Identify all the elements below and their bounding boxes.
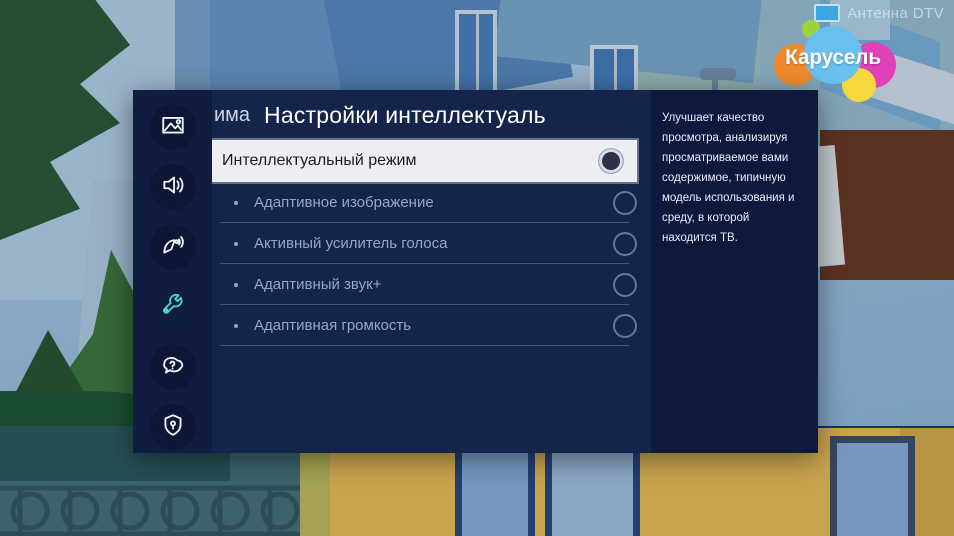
bullet-icon	[234, 283, 238, 287]
channel-source-banner: Антенна DTV	[814, 4, 944, 22]
sidebar-item-support[interactable]	[150, 344, 196, 390]
setting-label: Интеллектуальный режим	[222, 152, 599, 170]
channel-logo-text: Карусель	[768, 46, 898, 70]
setting-row-adaptive-sound-plus[interactable]: Адаптивный звук+	[212, 264, 637, 305]
sidebar-item-sound[interactable]	[150, 164, 196, 210]
setting-label: Адаптивная громкость	[254, 317, 613, 334]
shield-lock-icon	[160, 412, 186, 443]
support-icon	[160, 352, 186, 383]
toggle-intelligent-mode[interactable]	[599, 149, 623, 173]
sidebar-item-picture[interactable]	[150, 104, 196, 150]
toggle-adaptive-volume[interactable]	[613, 314, 637, 338]
settings-panel: има Настройки интеллектуаль Интеллектуал…	[133, 90, 818, 453]
sound-icon	[160, 172, 186, 203]
description-text: Улучшает качество просмотра, анализируя …	[662, 108, 805, 248]
wrench-icon	[160, 292, 186, 323]
sidebar-item-broadcast[interactable]	[150, 224, 196, 270]
picture-icon	[160, 112, 186, 143]
toggle-active-voice-amplifier[interactable]	[613, 232, 637, 256]
toggle-adaptive-picture[interactable]	[613, 191, 637, 215]
setting-row-adaptive-picture[interactable]: Адаптивное изображение	[212, 182, 637, 223]
bullet-icon	[234, 324, 238, 328]
breadcrumb[interactable]: има	[214, 104, 250, 127]
setting-label: Адаптивное изображение	[254, 194, 613, 211]
settings-option-list: Интеллектуальный режим Адаптивное изобра…	[212, 140, 651, 346]
setting-label: Адаптивный звук+	[254, 276, 613, 293]
setting-row-intelligent-mode[interactable]: Интеллектуальный режим	[212, 140, 637, 182]
setting-row-active-voice-amplifier[interactable]: Активный усилитель голоса	[212, 223, 637, 264]
tv-icon	[814, 4, 840, 22]
channel-source-label: Антенна DTV	[847, 5, 944, 22]
description-panel: Улучшает качество просмотра, анализируя …	[651, 90, 818, 453]
setting-label: Активный усилитель голоса	[254, 235, 613, 252]
bullet-icon	[234, 242, 238, 246]
sidebar-item-privacy[interactable]	[150, 404, 196, 450]
bullet-icon	[234, 201, 238, 205]
channel-logo: Карусель	[768, 24, 898, 88]
settings-header: има Настройки интеллектуаль	[212, 90, 651, 140]
page-title: Настройки интеллектуаль	[264, 102, 546, 129]
settings-main-column: има Настройки интеллектуаль Интеллектуал…	[212, 90, 651, 453]
setting-row-adaptive-volume[interactable]: Адаптивная громкость	[212, 305, 637, 346]
broadcast-icon	[160, 232, 186, 263]
sidebar-item-general[interactable]	[150, 284, 196, 330]
toggle-adaptive-sound-plus[interactable]	[613, 273, 637, 297]
settings-sidebar	[133, 90, 212, 453]
